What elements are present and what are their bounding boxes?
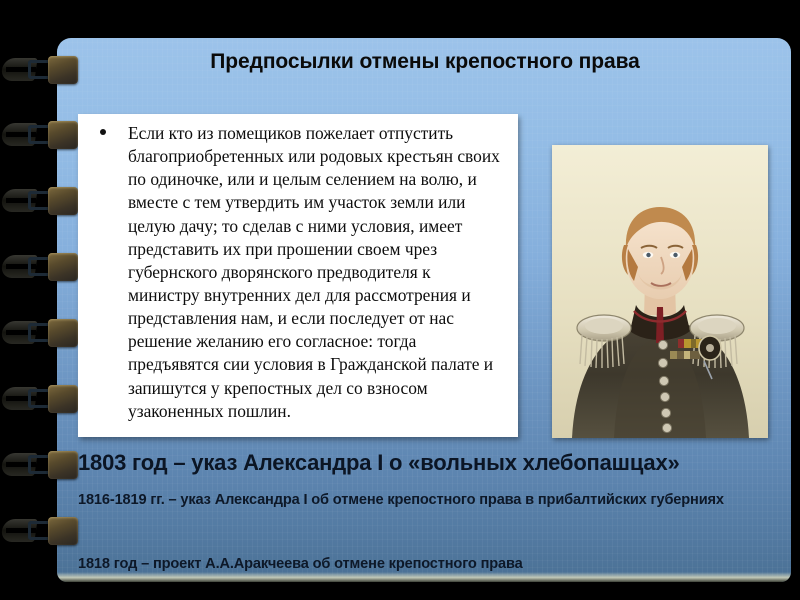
spiral-ring-clip-icon xyxy=(2,384,80,414)
quote-card: Если кто из помещиков пожелает отпустить… xyxy=(78,114,518,437)
list-item: Если кто из помещиков пожелает отпустить… xyxy=(92,122,506,423)
quote-text: Если кто из помещиков пожелает отпустить… xyxy=(128,123,500,421)
fact-line-1803: 1803 год – указ Александра I о «вольных … xyxy=(78,450,778,476)
fact-line-1818: 1818 год – проект А.А.Аракчеева об отмен… xyxy=(78,556,778,572)
portrait-illustration-icon xyxy=(552,145,768,438)
spiral-ring-clip-icon xyxy=(2,55,80,85)
slide-canvas: Предпосылки отмены крепостного права Есл… xyxy=(0,0,800,600)
quote-list: Если кто из помещиков пожелает отпустить… xyxy=(92,122,506,423)
spiral-ring-clip-icon xyxy=(2,516,80,546)
fact-line-1816: 1816-1819 гг. – указ Александра I об отм… xyxy=(78,490,778,512)
spiral-ring-clip-icon xyxy=(2,186,80,216)
spiral-ring-clip-icon xyxy=(2,450,80,480)
portrait-image xyxy=(552,145,768,438)
spiral-ring-clip-icon xyxy=(2,318,80,348)
bullet-dot-icon xyxy=(100,129,106,135)
page-title: Предпосылки отмены крепостного права xyxy=(80,50,770,74)
portrait-alexander-i xyxy=(552,145,768,438)
spiral-ring-clip-icon xyxy=(2,252,80,282)
spiral-ring-clip-icon xyxy=(2,120,80,150)
